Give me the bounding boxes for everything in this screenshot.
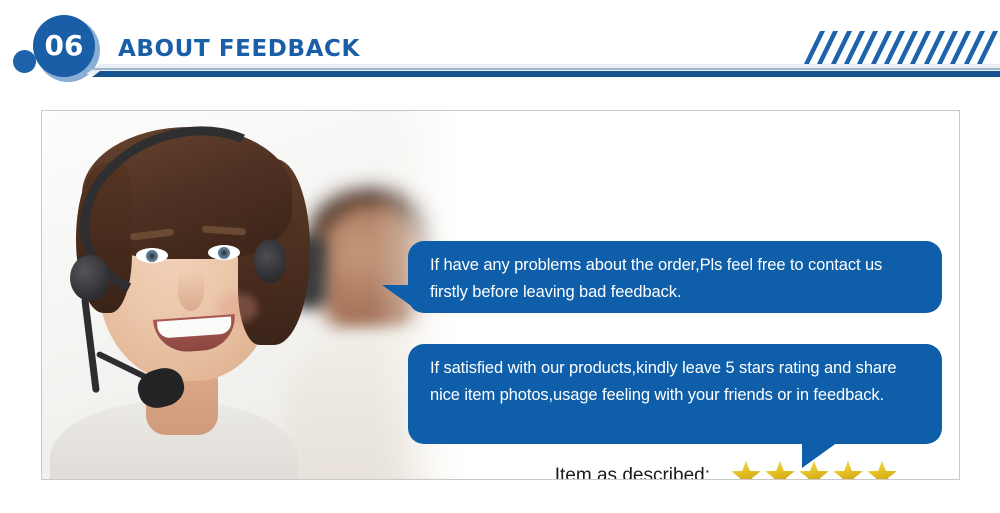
rating-label-item-as-described: Item as described: (526, 465, 710, 481)
headset-earcup-right (254, 239, 286, 283)
page-header: 06 ABOUT FEEDBACK (0, 0, 1000, 96)
section-number-badge: 06 (33, 15, 95, 77)
speech-bubble-five-stars-text: If satisfied with our products,kindly le… (430, 355, 920, 409)
rating-list: Item as described: Communication: Shippi… (526, 455, 956, 480)
agent-teeth (157, 316, 232, 338)
star-icon (832, 460, 864, 481)
header-bar-hairline (88, 68, 1000, 70)
header-bar-dark (92, 71, 1000, 77)
star-icon (866, 460, 898, 481)
section-number-label: 06 (45, 32, 84, 60)
rating-stars-item-as-described (730, 460, 898, 481)
header-accent-dot (13, 50, 36, 73)
rating-row: Item as described: (526, 455, 956, 480)
star-icon (798, 460, 830, 481)
speech-bubble-order-problem-text: If have any problems about the order,Pls… (430, 252, 920, 306)
speech-bubble-five-stars: If satisfied with our products,kindly le… (408, 344, 942, 444)
page-title: ABOUT FEEDBACK (118, 36, 360, 62)
headset-earcup-left (70, 255, 110, 301)
speech-bubble-order-problem: If have any problems about the order,Pls… (408, 241, 942, 313)
speech-bubble-tail-left (382, 285, 410, 305)
star-icon (730, 460, 762, 481)
feedback-panel: If have any problems about the order,Pls… (41, 110, 960, 480)
star-icon (764, 460, 796, 481)
diagonal-stripes-decoration (804, 31, 1000, 64)
